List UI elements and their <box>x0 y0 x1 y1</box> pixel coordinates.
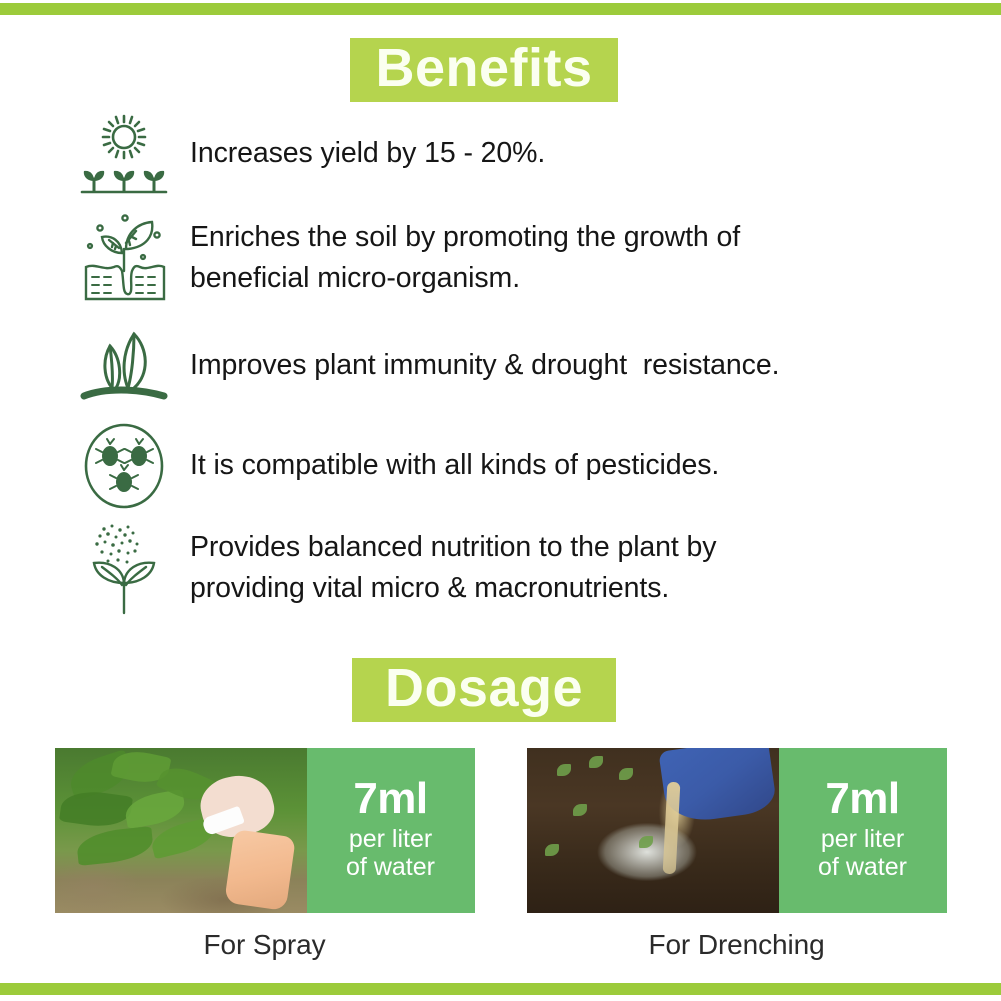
dose-unit-line-1: per liter <box>346 825 435 853</box>
dosage-card-body: 7ml per liter of water <box>527 748 947 913</box>
dose-unit-line-2: of water <box>346 853 435 881</box>
top-accent-bar <box>0 3 1001 15</box>
dosage-amount-panel: 7ml per liter of water <box>307 748 475 913</box>
benefit-item: Enriches the soil by promoting the growt… <box>76 212 956 304</box>
dose-unit-line-1: per liter <box>818 825 907 853</box>
dosage-caption: For Spray <box>55 929 475 961</box>
benefit-item: Provides balanced nutrition to the plant… <box>76 522 956 614</box>
plant-in-soil-icon <box>76 212 172 304</box>
seedling-with-nutrients-icon <box>76 522 172 614</box>
dosage-card-drenching: 7ml per liter of water For Drenching <box>527 748 947 961</box>
two-leaves-icon <box>76 320 172 412</box>
benefits-section-banner: Benefits <box>350 38 618 102</box>
dosage-heading-text: Dosage <box>385 661 583 719</box>
benefit-label: It is compatible with all kinds of pesti… <box>172 420 956 512</box>
benefit-label: Improves plant immunity & drought resist… <box>172 320 956 412</box>
dose-unit-line-2: of water <box>818 853 907 881</box>
dose-amount: 7ml <box>825 777 899 821</box>
dosage-card-spray: 7ml per liter of water For Spray <box>55 748 475 961</box>
sun-over-seedlings-icon <box>76 108 172 200</box>
dosage-cards: 7ml per liter of water For Spray <box>0 748 1001 961</box>
bottom-accent-bar <box>0 983 1001 995</box>
drenching-photo <box>527 748 779 913</box>
benefit-item: Improves plant immunity & drought resist… <box>76 320 956 412</box>
benefit-label: Increases yield by 15 - 20%. <box>172 108 956 200</box>
dose-amount: 7ml <box>353 777 427 821</box>
insects-in-circle-icon <box>76 420 172 512</box>
dosage-amount-panel: 7ml per liter of water <box>779 748 947 913</box>
dosage-card-body: 7ml per liter of water <box>55 748 475 913</box>
benefit-label: Provides balanced nutrition to the plant… <box>172 522 956 614</box>
spray-photo <box>55 748 307 913</box>
benefit-item: Increases yield by 15 - 20%. <box>76 108 956 200</box>
dosage-section-banner: Dosage <box>352 658 616 722</box>
benefits-list: Increases yield by 15 - 20%. <box>76 108 956 614</box>
benefit-item: It is compatible with all kinds of pesti… <box>76 420 956 512</box>
spray-bottle <box>224 829 296 911</box>
benefits-heading-text: Benefits <box>375 41 592 99</box>
infographic-page: Benefits <box>0 0 1001 1001</box>
benefit-label: Enriches the soil by promoting the growt… <box>172 212 956 304</box>
dosage-caption: For Drenching <box>527 929 947 961</box>
